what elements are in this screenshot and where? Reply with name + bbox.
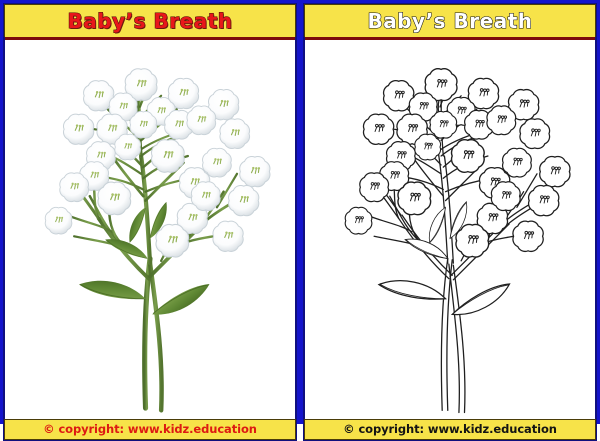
color-panel-footer-bar: © copyright: www.kidz.education <box>4 419 296 440</box>
lineart-panel: Baby’s Breath <box>300 0 600 424</box>
lineart-panel-inner: Baby’s Breath <box>303 3 597 441</box>
lineart-panel-title: Baby’s Breath <box>367 11 532 31</box>
color-panel-artwork <box>4 40 296 419</box>
babys-breath-lineart-svg <box>305 40 595 419</box>
color-panel-title-bar: Baby’s Breath <box>4 4 296 37</box>
color-panel-copyright: © copyright: www.kidz.education <box>43 424 257 436</box>
color-panel: Baby’s Breath <box>0 0 300 424</box>
lineart-panel-title-bar: Baby’s Breath <box>304 4 596 37</box>
lineart-panel-copyright: © copyright: www.kidz.education <box>343 424 557 436</box>
lineart-panel-footer-bar: © copyright: www.kidz.education <box>304 419 596 440</box>
color-panel-inner: Baby’s Breath <box>3 3 297 441</box>
babys-breath-colored-svg <box>5 40 295 419</box>
lineart-panel-artwork <box>304 40 596 419</box>
color-panel-title: Baby’s Breath <box>67 11 232 31</box>
worksheet-sheet: Baby’s Breath <box>0 0 600 424</box>
